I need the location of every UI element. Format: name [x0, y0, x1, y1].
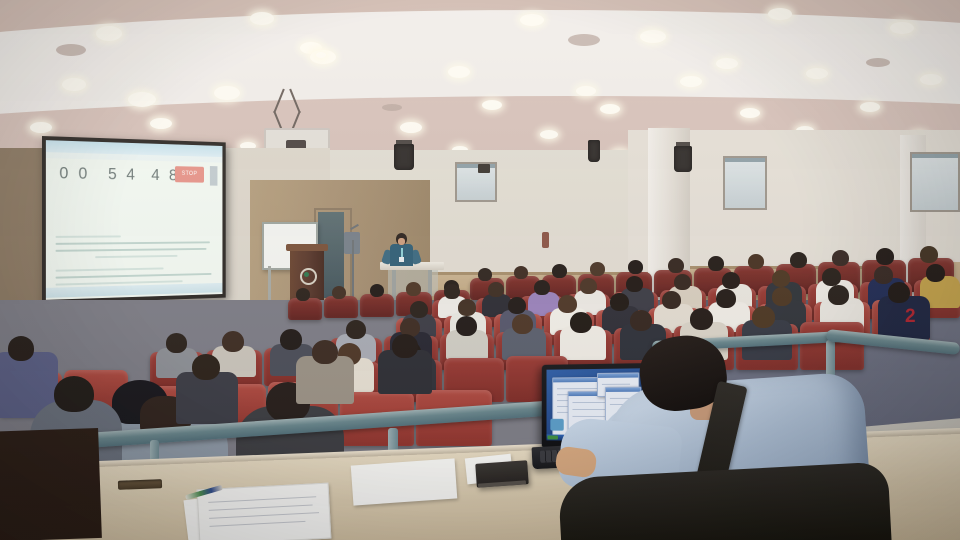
audience-head — [630, 310, 652, 331]
audience-head — [626, 276, 643, 292]
audience-torso-jersey — [878, 296, 930, 340]
wall-fixture — [542, 232, 549, 248]
audience-head — [444, 284, 460, 299]
downlight — [890, 22, 914, 34]
ceiling-vent — [56, 44, 86, 56]
audience-head — [410, 301, 428, 318]
audience-head — [748, 254, 764, 269]
left-wall-panel — [0, 148, 44, 318]
audience-head — [876, 248, 894, 265]
start-button[interactable] — [547, 435, 558, 439]
window-titlebar — [606, 388, 640, 392]
audience-head — [822, 268, 841, 286]
audience-head — [534, 280, 550, 295]
audience-head — [312, 340, 338, 364]
downlight — [96, 26, 122, 41]
window-panel — [455, 162, 497, 202]
window-blind — [912, 154, 958, 210]
downlight — [316, 52, 326, 58]
audience-head — [832, 250, 849, 266]
presenter-badge — [399, 257, 404, 262]
audience-head — [332, 286, 346, 299]
downlight — [768, 8, 792, 20]
audience-head — [926, 264, 945, 282]
downlight — [62, 78, 86, 91]
downlight — [740, 108, 760, 118]
audience-head — [828, 285, 849, 305]
projector-lift — [272, 88, 318, 132]
lecture-hall-photo: 0 0 5 4 4 8 STOP — [0, 0, 960, 540]
lectern-emblem-center — [304, 272, 309, 277]
audience-head — [458, 299, 476, 316]
audience-head — [392, 334, 418, 358]
audience-head — [296, 288, 310, 301]
projection-screen: 0 0 5 4 4 8 STOP — [42, 136, 226, 304]
downlight — [448, 66, 470, 78]
wall-speaker — [588, 140, 600, 162]
downlight — [716, 58, 738, 69]
downlight — [250, 12, 274, 25]
audience-head — [8, 336, 34, 361]
audience-head — [478, 268, 492, 281]
audience-head — [662, 291, 681, 309]
audience-head — [192, 354, 220, 380]
audience-head — [674, 274, 691, 290]
downlight — [400, 122, 422, 133]
audience-head — [552, 264, 567, 278]
audience-head — [610, 293, 629, 311]
downlight — [30, 122, 52, 133]
window-panel — [723, 156, 767, 210]
slide-text-line — [56, 267, 164, 271]
audience-head — [280, 329, 302, 350]
window-blind-header — [912, 154, 958, 158]
audience-head — [406, 282, 421, 296]
jersey-number: 2 — [905, 306, 916, 328]
timer-hours: 0 0 — [59, 163, 90, 183]
wall-device-icon — [478, 164, 490, 173]
audience-head — [772, 270, 790, 287]
audience-head — [370, 284, 384, 297]
wall-speaker — [394, 144, 414, 170]
audience-head — [590, 262, 605, 276]
slide-side-tab[interactable] — [210, 166, 218, 186]
audience-head — [222, 331, 244, 352]
audience-head — [668, 258, 684, 273]
lectern-emblem-icon — [300, 268, 317, 285]
seat — [360, 294, 394, 317]
downlight — [600, 104, 620, 114]
audience-head — [456, 316, 477, 336]
slide-text-line — [56, 241, 210, 244]
downlight — [576, 86, 596, 96]
downlight — [860, 102, 880, 112]
audience-head — [888, 282, 910, 303]
audience-head — [512, 314, 533, 334]
ceiling-vent — [866, 58, 890, 67]
audience-head — [508, 297, 526, 314]
audience-head — [628, 260, 643, 274]
downlight — [540, 130, 558, 139]
desk-side-panel — [0, 428, 102, 540]
audience-head — [722, 272, 740, 289]
audience-head — [514, 266, 528, 279]
downlight — [150, 118, 172, 129]
desktop-icon[interactable] — [550, 419, 563, 431]
timer-minutes: 5 4 — [108, 165, 138, 185]
slide-text-line — [95, 255, 177, 258]
audience-head — [488, 282, 504, 297]
audience-head — [772, 287, 792, 306]
audience-head — [920, 246, 938, 263]
audience-head — [570, 312, 592, 333]
seat — [324, 296, 358, 318]
downlight — [806, 68, 828, 79]
whiteboard-leg — [268, 266, 271, 300]
window-blind-header — [725, 158, 765, 162]
audience-head — [558, 295, 577, 313]
ceiling-vent — [568, 34, 600, 46]
downlight — [482, 100, 502, 110]
timer-unit-labels — [46, 190, 223, 200]
projected-slide: 0 0 5 4 4 8 STOP — [46, 140, 223, 300]
downlight — [640, 30, 666, 43]
slide-text-line — [56, 273, 212, 279]
audience-head — [874, 266, 893, 284]
microphone-stand — [352, 240, 354, 302]
paper-sheet — [351, 458, 458, 505]
audience-head — [752, 306, 775, 328]
downlight — [680, 76, 702, 87]
audience-head — [690, 308, 713, 330]
slide-text-line — [56, 235, 121, 237]
stop-button[interactable]: STOP — [175, 166, 204, 183]
lectern-top — [286, 244, 328, 251]
downlight — [214, 86, 240, 100]
ceiling-vent — [382, 104, 402, 111]
seat — [288, 298, 322, 320]
audience-head — [166, 333, 187, 353]
audience-head — [346, 320, 366, 339]
audience-head — [716, 289, 736, 308]
audience-head — [54, 376, 94, 412]
desk-cable-port[interactable] — [118, 479, 162, 490]
downlight — [920, 74, 942, 85]
downlight — [520, 14, 544, 26]
window-titlebar — [598, 373, 638, 378]
window-blind — [725, 158, 765, 208]
downlight — [128, 92, 156, 107]
presenter-face — [398, 238, 405, 245]
window-panel — [910, 152, 960, 212]
wall-speaker — [674, 146, 692, 172]
countdown-timer: 0 0 5 4 4 8 STOP — [46, 160, 223, 190]
audience-head — [708, 256, 724, 271]
slide-text-line — [56, 248, 207, 252]
audience-head — [580, 278, 597, 294]
audience-head — [790, 252, 807, 268]
